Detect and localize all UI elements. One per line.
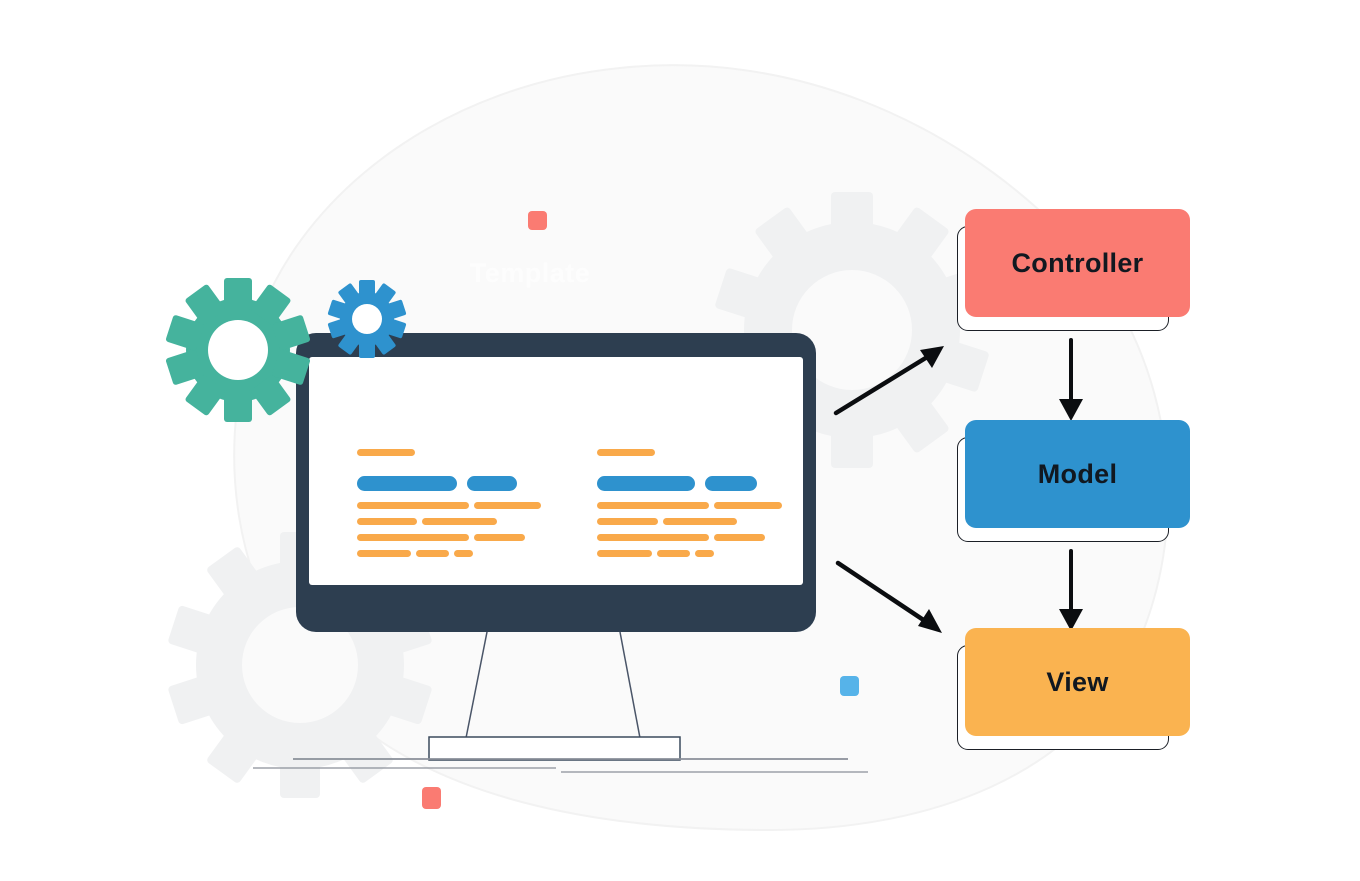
arrow-template-to-view	[838, 563, 942, 633]
mvc-box-label: Controller	[965, 209, 1190, 317]
illustration-canvas: Template	[0, 0, 1360, 881]
arrow-controller-to-model	[1059, 340, 1083, 421]
mvc-box-label: View	[965, 628, 1190, 736]
arrow-template-to-controller	[836, 346, 944, 413]
mvc-box-label: Model	[965, 420, 1190, 528]
arrow-model-to-view	[1059, 551, 1083, 631]
